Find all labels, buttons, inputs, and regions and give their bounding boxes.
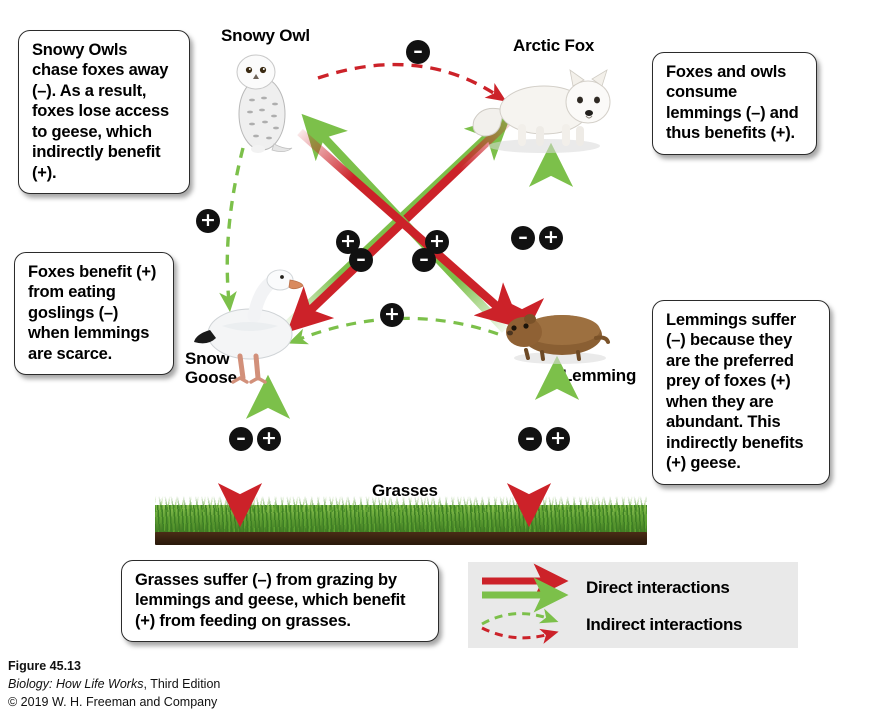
badge-owl-to-lemming-minus: –: [349, 248, 373, 272]
badge-owl-to-fox-minus: –: [406, 40, 430, 64]
legend-indirect-label: Indirect interactions: [586, 615, 742, 635]
snowy-owl-illustration: [222, 48, 302, 156]
badge-lemming-grass-minus: –: [518, 427, 542, 451]
snow-goose-illustration: [192, 256, 312, 384]
badge-lemming-grass-plus: +: [546, 427, 570, 451]
figure-canvas: Snowy Owl Arctic Fox Snow Goose Lemming …: [0, 0, 888, 704]
legend-panel: Direct interactions Indirect interaction…: [468, 562, 798, 648]
lemming-illustration: [498, 302, 618, 366]
arctic-fox-illustration: [470, 58, 618, 158]
badge-goose-grass-plus: +: [257, 427, 281, 451]
badge-lemming-to-goose-plus: +: [380, 303, 404, 327]
badge-fox-lemming-minus: –: [511, 226, 535, 250]
legend-direct-label: Direct interactions: [586, 578, 730, 598]
badge-owl-to-goose-plus: +: [196, 209, 220, 233]
badge-goose-grass-minus: –: [229, 427, 253, 451]
badge-lemming-to-owl-plus: +: [425, 230, 449, 254]
legend-arrow-art: [468, 562, 798, 648]
badge-fox-lemming-plus: +: [539, 226, 563, 250]
label-grasses: Grasses: [372, 481, 438, 500]
